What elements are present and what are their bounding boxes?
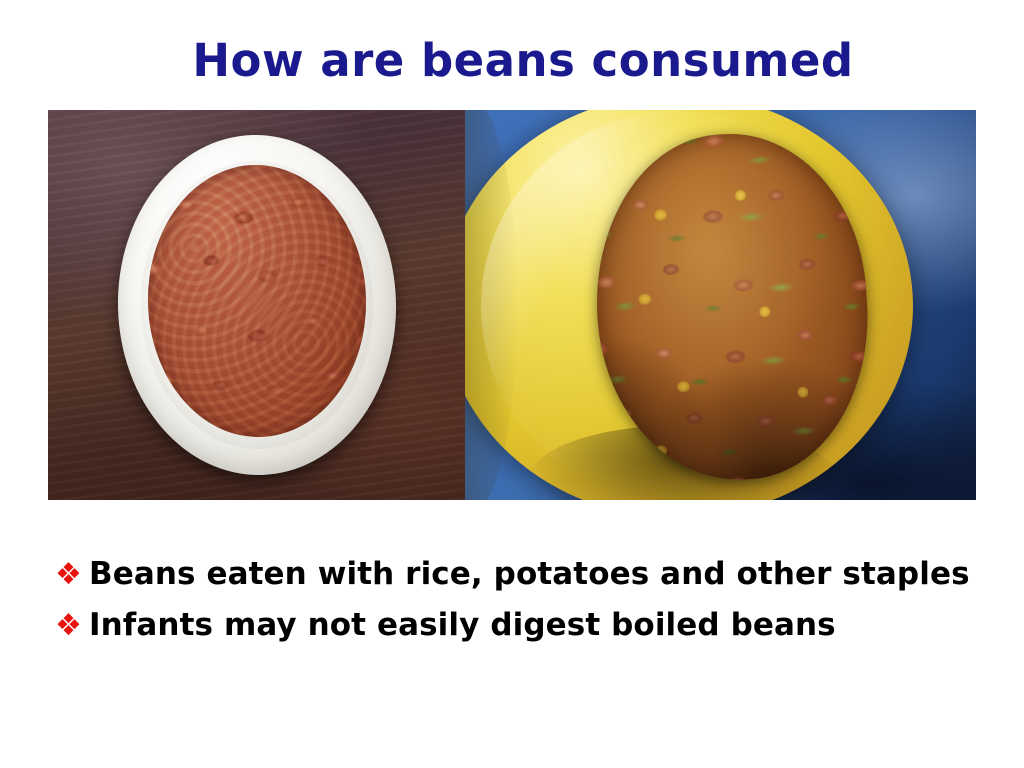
pot-of-beans-with-greens-photo (465, 110, 976, 500)
beans-with-greens-stew (585, 125, 878, 489)
boiled-beans-serving (144, 162, 369, 440)
bullet-list: ❖ Beans eaten with rice, potatoes and ot… (55, 552, 975, 654)
bullet-text: Infants may not easily digest boiled bea… (89, 603, 836, 647)
page-title: How are beans consumed (0, 32, 1024, 90)
plate-of-boiled-beans-photo (48, 110, 465, 500)
list-item: ❖ Infants may not easily digest boiled b… (55, 603, 975, 648)
list-item: ❖ Beans eaten with rice, potatoes and ot… (55, 552, 975, 597)
stew-shading-overlay (585, 125, 878, 489)
presentation-slide: How are beans consumed (0, 0, 1024, 768)
diamond-bullet-icon: ❖ (55, 604, 89, 648)
diamond-bullet-icon: ❖ (55, 553, 89, 597)
image-strip (48, 110, 976, 500)
bullet-text: Beans eaten with rice, potatoes and othe… (89, 552, 970, 596)
